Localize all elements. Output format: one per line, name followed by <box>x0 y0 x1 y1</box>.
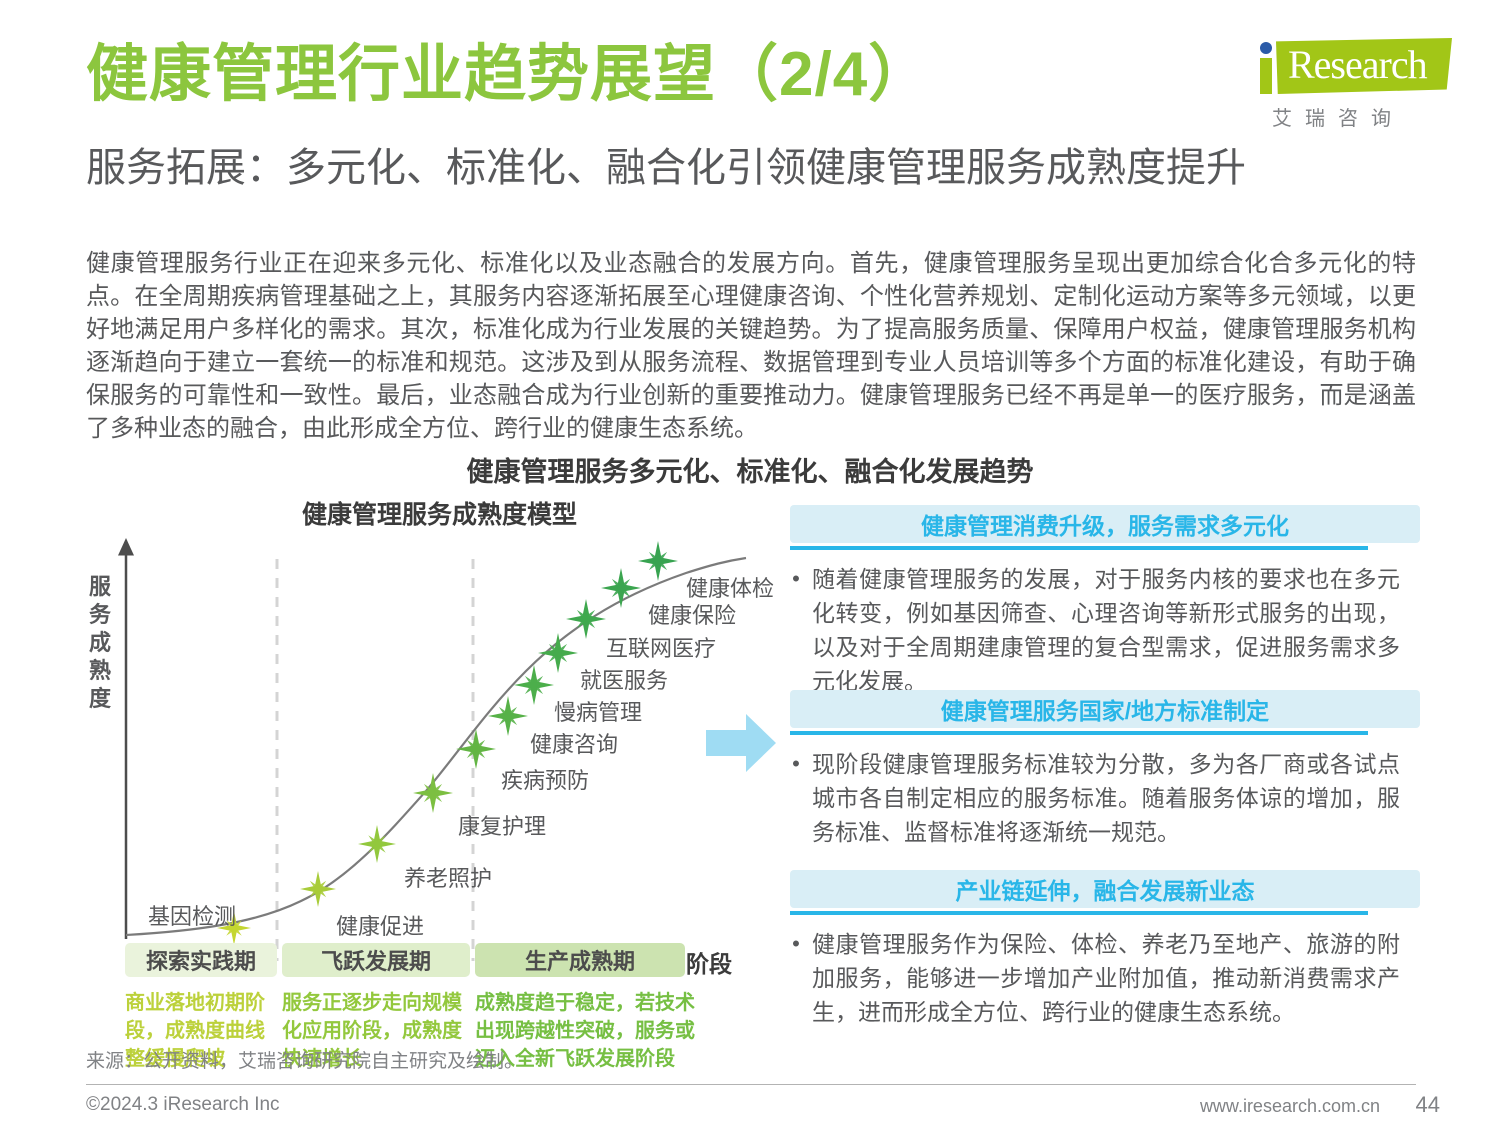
flow-arrow-icon <box>706 712 778 774</box>
intro-paragraph: 健康管理服务行业正在迎来多元化、标准化以及业态融合的发展方向。首先，健康管理服务… <box>86 247 1416 445</box>
stage-bar-1: 飞跃发展期 <box>282 943 470 977</box>
maturity-model-chart: 健康管理服务成熟度模型 服务成熟度 阶段 基因检测健康促进养老照护康复护理疾病预… <box>86 495 766 1055</box>
chart-plot-area: 服务成熟度 阶段 基因检测健康促进养老照护康复护理疾病预防健康咨询慢病管理就医服… <box>86 531 766 961</box>
insight-block-title: 产业链延伸，融合发展新业态 <box>956 872 1255 906</box>
insight-block-text: 现阶段健康管理服务标准较为分散，多为各厂商或各试点城市各自制定相应的服务标准。随… <box>812 747 1400 849</box>
data-point-star <box>638 541 678 581</box>
insight-block-header: 产业链延伸，融合发展新业态 <box>790 870 1420 908</box>
data-point-star <box>538 633 578 673</box>
data-point-label: 基因检测 <box>148 899 236 931</box>
insight-block-2: 产业链延伸，融合发展新业态 • 健康管理服务作为保险、体检、养老乃至地产、旅游的… <box>790 870 1420 1029</box>
logo-mark: Research <box>1254 36 1452 98</box>
insight-block-rule <box>790 911 1368 915</box>
chart-subtitle: 健康管理服务成熟度模型 <box>302 495 577 531</box>
logo-chinese-name: 艾瑞咨询 <box>1272 102 1404 131</box>
figure-title: 健康管理服务多元化、标准化、融合化发展趋势 <box>0 450 1500 489</box>
chart-source-note: 来源：公开资料，艾瑞咨询研究院自主研究及绘制。 <box>86 1046 523 1073</box>
data-point-star <box>300 871 336 907</box>
data-point-label: 就医服务 <box>580 663 668 695</box>
data-point-label: 慢病管理 <box>554 695 642 727</box>
data-point-label: 养老照护 <box>404 861 492 893</box>
data-point-star <box>514 665 554 705</box>
insight-block-header: 健康管理消费升级，服务需求多元化 <box>790 505 1420 543</box>
data-point-label: 健康体检 <box>686 571 774 603</box>
footer-copyright: ©2024.3 iResearch Inc <box>86 1094 280 1116</box>
footer-divider <box>86 1084 1416 1085</box>
data-point-label: 康复护理 <box>458 809 546 841</box>
insight-block-body: • 健康管理服务作为保险、体检、养老乃至地产、旅游的附加服务，能够进一步增加产业… <box>790 927 1420 1029</box>
data-point-label: 健康咨询 <box>530 727 618 759</box>
insight-block-1: 健康管理服务国家/地方标准制定 • 现阶段健康管理服务标准较为分散，多为各厂商或… <box>790 690 1420 849</box>
stage-bar-2: 生产成熟期 <box>475 943 685 977</box>
bullet-icon: • <box>790 747 802 849</box>
bullet-icon: • <box>790 562 802 698</box>
iresearch-logo: Research 艾瑞咨询 <box>1232 36 1452 136</box>
insight-block-title: 健康管理服务国家/地方标准制定 <box>941 692 1269 726</box>
logo-letter-i-dot-icon <box>1260 42 1272 54</box>
data-point-star <box>413 773 453 813</box>
insight-block-0: 健康管理消费升级，服务需求多元化 • 随着健康管理服务的发展，对于服务内核的要求… <box>790 505 1420 698</box>
stage-bar-0: 探索实践期 <box>125 943 277 977</box>
chart-svg <box>86 531 766 961</box>
data-point-label: 疾病预防 <box>501 763 589 795</box>
insight-block-title: 健康管理消费升级，服务需求多元化 <box>921 507 1289 541</box>
insight-block-body: • 随着健康管理服务的发展，对于服务内核的要求也在多元化转变，例如基因筛查、心理… <box>790 562 1420 698</box>
footer-website: www.iresearch.com.cn <box>1200 1096 1380 1117</box>
logo-letter-i-stem <box>1260 58 1272 94</box>
stage-dividers <box>277 559 473 961</box>
insight-block-rule <box>790 731 1368 735</box>
page-number: 44 <box>1416 1092 1440 1118</box>
insights-panel: 健康管理消费升级，服务需求多元化 • 随着健康管理服务的发展，对于服务内核的要求… <box>790 505 1420 1065</box>
data-point-label: 健康促进 <box>336 909 424 941</box>
insight-block-text: 健康管理服务作为保险、体检、养老乃至地产、旅游的附加服务，能够进一步增加产业附加… <box>812 927 1400 1029</box>
insight-block-text: 随着健康管理服务的发展，对于服务内核的要求也在多元化转变，例如基因筛查、心理咨询… <box>812 562 1400 698</box>
logo-wordmark: Research <box>1288 43 1427 87</box>
page-subtitle: 服务拓展：多元化、标准化、融合化引领健康管理服务成熟度提升 <box>86 148 1246 188</box>
insight-block-body: • 现阶段健康管理服务标准较为分散，多为各厂商或各试点城市各自制定相应的服务标准… <box>790 747 1420 849</box>
insight-block-header: 健康管理服务国家/地方标准制定 <box>790 690 1420 728</box>
page-header: 健康管理行业趋势展望（2/4） 服务拓展：多元化、标准化、融合化引领健康管理服务… <box>0 0 1500 220</box>
data-point-star <box>488 696 528 736</box>
data-point-star <box>566 599 606 639</box>
insight-block-rule <box>790 546 1368 550</box>
page-title: 健康管理行业趋势展望（2/4） <box>86 44 931 106</box>
data-point-star <box>456 729 496 769</box>
stage-bar-label: 生产成熟期 <box>525 944 635 976</box>
data-point-star <box>601 568 641 608</box>
bullet-icon: • <box>790 927 802 1029</box>
stage-bar-label: 探索实践期 <box>146 944 256 976</box>
stage-bar-label: 飞跃发展期 <box>321 944 431 976</box>
data-point-label: 互联网医疗 <box>606 631 716 663</box>
